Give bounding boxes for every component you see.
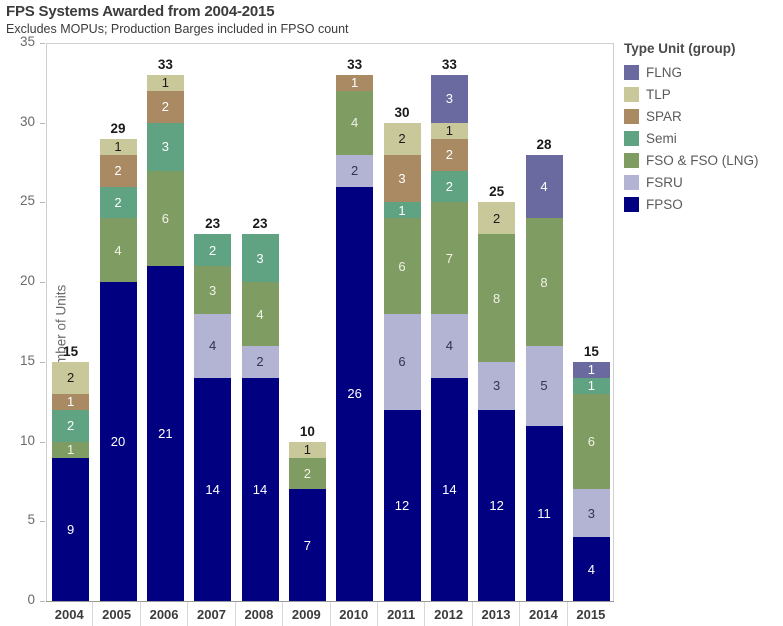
- bar-segment-value: 8: [493, 292, 500, 305]
- bar-segment-value: 3: [588, 507, 595, 520]
- bar-segment[interactable]: 1: [573, 378, 610, 394]
- x-tick-2005: 2005: [93, 602, 140, 626]
- bar-segment[interactable]: 2: [289, 458, 326, 490]
- bar-segment-value: 2: [67, 371, 74, 384]
- legend-label: Semi: [646, 131, 677, 146]
- y-tick-mark: [40, 123, 45, 124]
- legend-item-semi[interactable]: Semi: [624, 127, 783, 149]
- bar-segment-value: 2: [351, 164, 358, 177]
- bar-segment[interactable]: 1: [100, 139, 137, 155]
- bar-segment-value: 2: [446, 148, 453, 161]
- bar-column-2015[interactable]: 4361115: [573, 362, 610, 601]
- bar-segment-value: 12: [395, 499, 409, 512]
- bar-segment-value: 2: [446, 180, 453, 193]
- plot-area: Number of Units 05101520253035 912121520…: [46, 43, 614, 601]
- bar-column-2011[interactable]: 126613230: [384, 123, 421, 601]
- x-tick-2015: 2015: [568, 602, 614, 626]
- bar-column-2007[interactable]: 1443223: [194, 234, 231, 601]
- bar-segment-value: 1: [398, 204, 405, 217]
- bar-segment-value: 3: [162, 140, 169, 153]
- y-tick-label: 30: [0, 114, 35, 129]
- x-tick-2010: 2010: [331, 602, 378, 626]
- y-tick-mark: [40, 601, 45, 602]
- bar-segment-value: 14: [253, 483, 267, 496]
- bar-segment[interactable]: 14: [242, 378, 279, 601]
- bar-segment[interactable]: 6: [147, 171, 184, 267]
- bar-segment[interactable]: 1: [573, 362, 610, 378]
- x-tick-2014: 2014: [520, 602, 567, 626]
- bar-segment-value: 1: [588, 363, 595, 376]
- bar-segment[interactable]: 1: [431, 123, 468, 139]
- x-tick-2013: 2013: [473, 602, 520, 626]
- bar-segment[interactable]: 4: [194, 314, 231, 378]
- bar-total-label: 30: [384, 105, 421, 120]
- bar-segment[interactable]: 1: [52, 394, 89, 410]
- x-tick-2004: 2004: [46, 602, 93, 626]
- bar-segment-value: 1: [162, 76, 169, 89]
- bar-segment[interactable]: 21: [147, 266, 184, 601]
- chart-root: FPS Systems Awarded from 2004-2015 Exclu…: [0, 0, 783, 626]
- bar-segment-value: 2: [67, 419, 74, 432]
- bar-column-2012[interactable]: 1447221333: [431, 75, 468, 601]
- legend-item-fsru[interactable]: FSRU: [624, 171, 783, 193]
- x-tick-2011: 2011: [378, 602, 425, 626]
- bar-segment[interactable]: 3: [573, 489, 610, 537]
- bar-segment-value: 4: [540, 180, 547, 193]
- bar-segment[interactable]: 3: [242, 234, 279, 282]
- bar-segment-value: 6: [588, 435, 595, 448]
- bar-segment-value: 1: [304, 443, 311, 456]
- bar-segment-value: 4: [209, 339, 216, 352]
- bar-segment-value: 11: [537, 507, 551, 520]
- bar-segment-value: 2: [114, 196, 121, 209]
- bar-segment[interactable]: 5: [526, 346, 563, 426]
- bar-total-label: 10: [289, 424, 326, 439]
- x-tick-2009: 2009: [283, 602, 330, 626]
- bar-segment-value: 3: [398, 172, 405, 185]
- bar-segment-value: 4: [351, 116, 358, 129]
- bar-segment-value: 4: [588, 563, 595, 576]
- legend-label: FSRU: [646, 175, 683, 190]
- bar-segment-value: 2: [162, 100, 169, 113]
- bar-segment-value: 4: [114, 244, 121, 257]
- bar-segment-value: 3: [256, 252, 263, 265]
- bar-segment[interactable]: 3: [384, 155, 421, 203]
- bar-segment-value: 2: [398, 132, 405, 145]
- legend-items: FLNGTLPSPARSemiFSO & FSO (LNG)FSRUFPSO: [624, 61, 783, 215]
- bar-segment[interactable]: 2: [147, 91, 184, 123]
- bar-column-2008[interactable]: 1424323: [242, 234, 279, 601]
- y-tick-mark: [40, 362, 45, 363]
- bar-segment[interactable]: 2: [478, 202, 515, 234]
- bar-segment-value: 2: [114, 164, 121, 177]
- legend-label: SPAR: [646, 109, 682, 124]
- bar-segment[interactable]: 7: [431, 202, 468, 314]
- x-tick-2006: 2006: [141, 602, 188, 626]
- bar-segment-value: 9: [67, 523, 74, 536]
- bar-segment[interactable]: 2: [52, 410, 89, 442]
- bar-total-label: 33: [336, 57, 373, 72]
- bar-segment[interactable]: 2: [100, 155, 137, 187]
- bar-segment[interactable]: 4: [100, 218, 137, 282]
- bar-segment-value: 14: [442, 483, 456, 496]
- bar-segment[interactable]: 1: [336, 75, 373, 91]
- legend-label: TLP: [646, 87, 671, 102]
- bar-segment-value: 5: [540, 379, 547, 392]
- bar-column-2010[interactable]: 2624133: [336, 75, 373, 601]
- y-tick-mark: [40, 521, 45, 522]
- legend-item-fpso[interactable]: FPSO: [624, 193, 783, 215]
- legend-swatch-icon: [624, 87, 639, 102]
- legend-swatch-icon: [624, 65, 639, 80]
- bar-total-label: 33: [147, 57, 184, 72]
- legend-title: Type Unit (group): [624, 41, 783, 56]
- bar-segment[interactable]: 8: [526, 218, 563, 346]
- legend-swatch-icon: [624, 131, 639, 146]
- legend-label: FSO & FSO (LNG): [646, 153, 759, 168]
- bar-column-2005[interactable]: 20422129: [100, 139, 137, 601]
- bar-segment-value: 6: [398, 260, 405, 273]
- bar-segment-value: 3: [493, 379, 500, 392]
- chart-title: FPS Systems Awarded from 2004-2015: [6, 3, 274, 20]
- bar-segment-value: 8: [540, 276, 547, 289]
- bar-segment[interactable]: 20: [100, 282, 137, 601]
- bar-total-label: 15: [573, 344, 610, 359]
- legend-swatch-icon: [624, 175, 639, 190]
- bar-segment[interactable]: 3: [194, 266, 231, 314]
- bar-column-2014[interactable]: 1158428: [526, 155, 563, 601]
- legend-item-fso-fso-lng[interactable]: FSO & FSO (LNG): [624, 149, 783, 171]
- bar-total-label: 29: [100, 121, 137, 136]
- bar-segment[interactable]: 7: [289, 489, 326, 601]
- bar-segment-value: 1: [588, 379, 595, 392]
- y-tick-mark: [40, 282, 45, 283]
- bar-segment-value: 2: [493, 212, 500, 225]
- bar-segment[interactable]: 26: [336, 187, 373, 602]
- bar-segment-value: 4: [256, 308, 263, 321]
- bar-segment[interactable]: 2: [384, 123, 421, 155]
- bar-segment-value: 3: [209, 284, 216, 297]
- bar-segment[interactable]: 6: [384, 314, 421, 410]
- y-tick-label: 5: [0, 512, 35, 527]
- bar-segment-value: 2: [209, 244, 216, 257]
- bar-segment-value: 2: [304, 467, 311, 480]
- bar-segment[interactable]: 2: [194, 234, 231, 266]
- legend-swatch-icon: [624, 109, 639, 124]
- bar-segment[interactable]: 2: [242, 346, 279, 378]
- chart-subtitle: Excludes MOPUs; Production Barges includ…: [6, 22, 349, 36]
- bar-segment[interactable]: 2: [431, 139, 468, 171]
- bar-segment[interactable]: 4: [573, 537, 610, 601]
- y-tick-mark: [40, 442, 45, 443]
- bar-segment[interactable]: 2: [336, 155, 373, 187]
- bar-segment[interactable]: 4: [431, 314, 468, 378]
- bar-segment-value: 1: [114, 140, 121, 153]
- bar-segment-value: 1: [446, 124, 453, 137]
- bar-column-2013[interactable]: 1238225: [478, 202, 515, 601]
- bar-total-label: 23: [194, 216, 231, 231]
- bar-segment[interactable]: 2: [52, 362, 89, 394]
- y-tick-label: 20: [0, 273, 35, 288]
- legend: Type Unit (group) FLNGTLPSPARSemiFSO & F…: [624, 41, 783, 215]
- bar-segment[interactable]: 6: [384, 218, 421, 314]
- legend-item-tlp[interactable]: TLP: [624, 83, 783, 105]
- bar-total-label: 23: [242, 216, 279, 231]
- bar-segment[interactable]: 1: [52, 442, 89, 458]
- bar-segment[interactable]: 11: [526, 426, 563, 601]
- x-tick-2008: 2008: [236, 602, 283, 626]
- y-tick-label: 0: [0, 592, 35, 607]
- x-tick-2007: 2007: [188, 602, 235, 626]
- bar-segment-value: 1: [351, 76, 358, 89]
- x-axis: 2004200520062007200820092010201120122013…: [46, 601, 614, 626]
- bar-column-2004[interactable]: 9121215: [52, 362, 89, 601]
- bar-column-2009[interactable]: 72110: [289, 442, 326, 601]
- bar-segment[interactable]: 3: [147, 123, 184, 171]
- bar-segment[interactable]: 1: [289, 442, 326, 458]
- bar-segment[interactable]: 2: [100, 187, 137, 219]
- bar-column-2006[interactable]: 21632133: [147, 75, 184, 601]
- legend-item-spar[interactable]: SPAR: [624, 105, 783, 127]
- bar-segment[interactable]: 2: [431, 171, 468, 203]
- bar-segment[interactable]: 14: [431, 378, 468, 601]
- bar-segment[interactable]: 4: [526, 155, 563, 219]
- bar-segment[interactable]: 12: [384, 410, 421, 601]
- bar-segment[interactable]: 3: [478, 362, 515, 410]
- bar-total-label: 15: [52, 344, 89, 359]
- bar-segment-value: 20: [111, 435, 125, 448]
- bar-total-label: 33: [431, 57, 468, 72]
- legend-label: FLNG: [646, 65, 682, 80]
- legend-label: FPSO: [646, 197, 683, 212]
- bar-segment[interactable]: 1: [384, 202, 421, 218]
- bar-segment[interactable]: 4: [242, 282, 279, 346]
- bar-segment[interactable]: 4: [336, 91, 373, 155]
- bar-segment-value: 7: [304, 539, 311, 552]
- bar-segment-value: 6: [398, 355, 405, 368]
- y-tick-label: 35: [0, 34, 35, 49]
- legend-swatch-icon: [624, 197, 639, 212]
- y-tick-label: 25: [0, 193, 35, 208]
- bar-segment[interactable]: 6: [573, 394, 610, 490]
- legend-item-flng[interactable]: FLNG: [624, 61, 783, 83]
- bar-segment-value: 3: [446, 92, 453, 105]
- bar-segment-value: 6: [162, 212, 169, 225]
- bar-segment[interactable]: 1: [147, 75, 184, 91]
- y-tick-mark: [40, 43, 45, 44]
- bar-segment[interactable]: 12: [478, 410, 515, 601]
- bar-segment[interactable]: 14: [194, 378, 231, 601]
- bar-total-label: 28: [526, 137, 563, 152]
- bar-total-label: 25: [478, 184, 515, 199]
- x-tick-2012: 2012: [425, 602, 472, 626]
- bar-segment[interactable]: 9: [52, 458, 89, 601]
- bar-segment-value: 14: [205, 483, 219, 496]
- y-tick-label: 15: [0, 353, 35, 368]
- bar-segment-value: 26: [347, 387, 361, 400]
- bar-segment-value: 2: [256, 355, 263, 368]
- bar-segment-value: 1: [67, 443, 74, 456]
- bar-segment[interactable]: 8: [478, 234, 515, 362]
- bar-segment-value: 21: [158, 427, 172, 440]
- y-tick-label: 10: [0, 433, 35, 448]
- bars-layer: 9121215204221292163213314432231424323721…: [47, 44, 613, 601]
- legend-swatch-icon: [624, 153, 639, 168]
- bar-segment-value: 1: [67, 395, 74, 408]
- bar-segment-value: 7: [446, 252, 453, 265]
- bar-segment-value: 12: [489, 499, 503, 512]
- y-tick-mark: [40, 202, 45, 203]
- bar-segment-value: 4: [446, 339, 453, 352]
- bar-segment[interactable]: 3: [431, 75, 468, 123]
